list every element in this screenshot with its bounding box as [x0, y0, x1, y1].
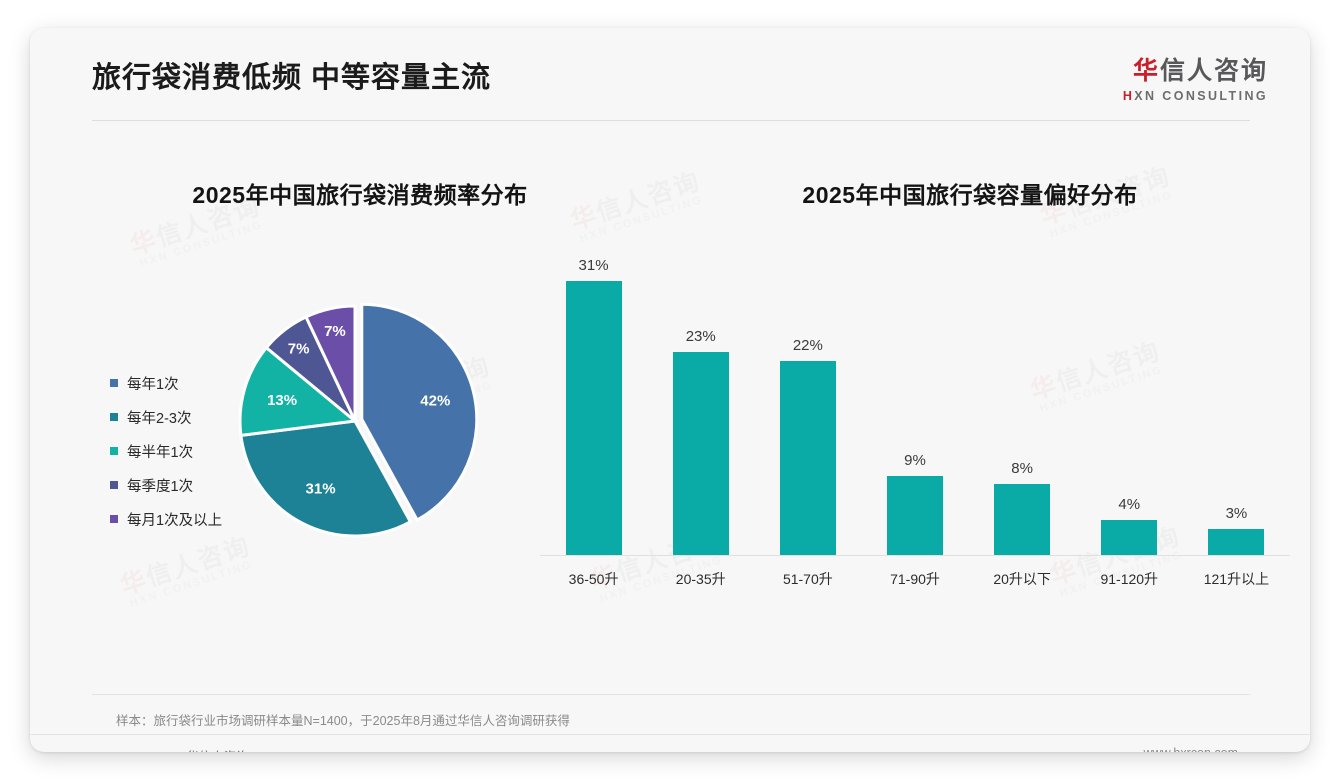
pie-chart-graphic: 42%31%13%7%7% — [215, 271, 495, 571]
legend-swatch-icon — [110, 379, 118, 387]
footer-divider — [30, 734, 1310, 735]
brand-logo: 华信人咨询 HXN CONSULTING — [1123, 58, 1268, 103]
logo-en-accent: H — [1123, 89, 1134, 103]
legend-item[interactable]: 每半年1次 — [110, 434, 222, 468]
logo-en-rest: XN CONSULTING — [1134, 89, 1268, 103]
pie-svg: 42%31%13%7%7% — [215, 271, 495, 571]
bar-x-label: 51-70升 — [754, 569, 861, 589]
bar-slot: 9%71-90升 — [861, 255, 968, 555]
pie-chart-title: 2025年中国旅行袋消费频率分布 — [80, 176, 640, 210]
legend-swatch-icon — [110, 413, 118, 421]
bar-chart-plot: 31%36-50升23%20-35升22%51-70升9%71-90升8%20升… — [530, 246, 1290, 596]
bar-x-label: 20-35升 — [647, 569, 754, 589]
bar-slot: 23%20-35升 — [647, 255, 754, 555]
bar-slot: 3%121升以上 — [1183, 255, 1290, 555]
pie-slice-label: 42% — [420, 392, 450, 409]
bar-value-label: 9% — [904, 452, 926, 469]
bar-rect[interactable] — [566, 281, 622, 555]
legend-swatch-icon — [110, 481, 118, 489]
slide-card: 华信人咨询 HXN CONSULTING 华信人咨询 HXN CONSULTIN… — [30, 28, 1310, 752]
pie-slice-label: 13% — [267, 392, 297, 409]
bar-chart-panel: 2025年中国旅行袋容量偏好分布 31%36-50升23%20-35升22%51… — [670, 176, 1290, 646]
legend-swatch-icon — [110, 447, 118, 455]
slide-header: 旅行袋消费低频 中等容量主流 华信人咨询 HXN CONSULTING — [30, 28, 1310, 120]
pie-legend: 每年1次 每年2-3次 每半年1次 每季度1次 每月1次及以上 — [110, 366, 222, 536]
pie-slice-label: 7% — [288, 340, 310, 357]
bar-x-label: 20升以下 — [969, 569, 1076, 589]
logo-cn-accent: 华 — [1133, 57, 1160, 85]
legend-item[interactable]: 每年1次 — [110, 366, 222, 400]
bar-slot: 4%91-120升 — [1076, 255, 1183, 555]
footnote-text: 样本：旅行袋行业市场调研样本量N=1400，于2025年8月通过华信人咨询调研获… — [116, 710, 570, 729]
bar-rect[interactable] — [887, 476, 943, 555]
bar-chart-title: 2025年中国旅行袋容量偏好分布 — [670, 176, 1270, 210]
bar-series: 31%36-50升23%20-35升22%51-70升9%71-90升8%20升… — [540, 255, 1290, 555]
footnote-divider — [92, 694, 1250, 695]
bar-value-label: 3% — [1226, 505, 1248, 522]
bar-rect[interactable] — [1101, 520, 1157, 555]
bar-value-label: 22% — [793, 337, 823, 354]
header-divider — [92, 120, 1250, 121]
bar-rect[interactable] — [1208, 529, 1264, 555]
bar-rect[interactable] — [673, 352, 729, 555]
bar-x-label: 36-50升 — [540, 569, 647, 589]
page-title: 旅行袋消费低频 中等容量主流 — [92, 54, 491, 96]
bar-rect[interactable] — [994, 484, 1050, 555]
bar-x-label: 71-90升 — [861, 569, 968, 589]
legend-item[interactable]: 每季度1次 — [110, 468, 222, 502]
legend-item[interactable]: 每年2-3次 — [110, 400, 222, 434]
copyright-text: ©2025.10 HXR华信人咨询 — [102, 746, 249, 752]
legend-label: 每季度1次 — [127, 475, 193, 496]
legend-label: 每年1次 — [127, 373, 179, 394]
bar-x-label: 121升以上 — [1183, 569, 1290, 589]
bar-x-label: 91-120升 — [1076, 569, 1183, 589]
website-link[interactable]: www.hxrcon.com — [1144, 746, 1238, 752]
bar-value-label: 23% — [686, 328, 716, 345]
logo-cn-rest: 信人咨询 — [1160, 57, 1268, 85]
bar-slot: 22%51-70升 — [754, 255, 861, 555]
bar-slot: 8%20升以下 — [969, 255, 1076, 555]
legend-label: 每月1次及以上 — [127, 509, 222, 530]
legend-item[interactable]: 每月1次及以上 — [110, 502, 222, 536]
pie-slice-label: 31% — [306, 481, 336, 498]
pie-slice-label: 7% — [324, 323, 346, 340]
legend-label: 每年2-3次 — [127, 407, 191, 428]
legend-label: 每半年1次 — [127, 441, 193, 462]
bar-value-label: 31% — [579, 257, 609, 274]
bar-axis-line — [540, 555, 1290, 556]
legend-swatch-icon — [110, 515, 118, 523]
bar-rect[interactable] — [780, 361, 836, 555]
bar-value-label: 8% — [1011, 460, 1033, 477]
bar-slot: 31%36-50升 — [540, 255, 647, 555]
bar-value-label: 4% — [1118, 496, 1140, 513]
